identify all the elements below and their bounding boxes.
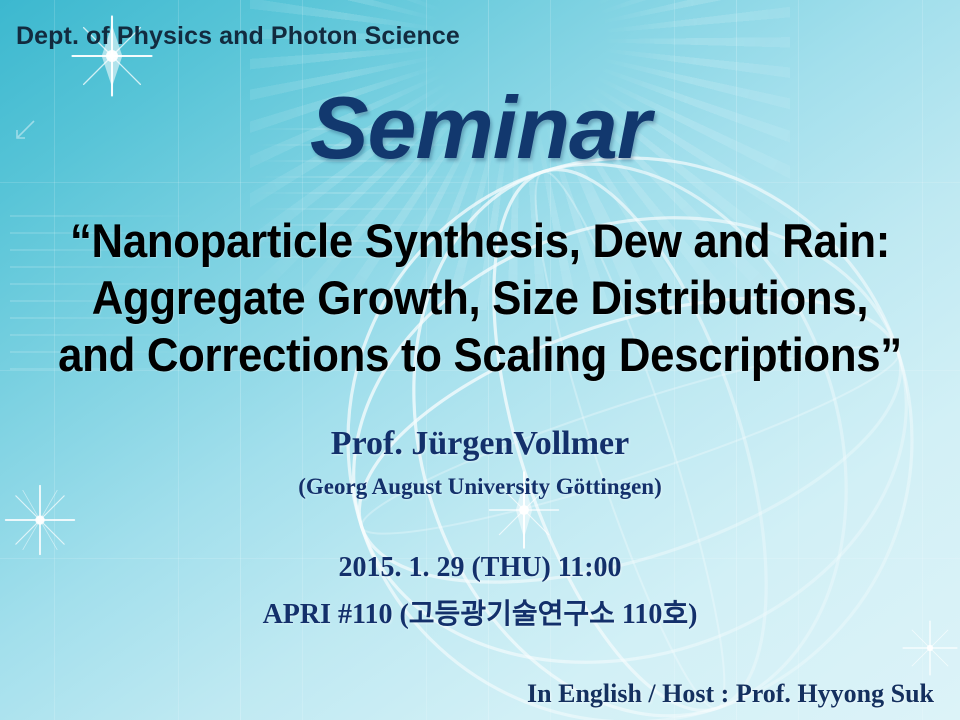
seminar-poster: Dept. of Physics and Photon Science Semi…	[0, 0, 960, 720]
event-venue: APRI #110 (고등광기술연구소 110호)	[0, 592, 960, 632]
talk-title: “Nanoparticle Synthesis, Dew and Rain: A…	[34, 212, 927, 383]
speaker-name: Prof. JürgenVollmer	[0, 425, 960, 463]
footer-note: In English / Host : Prof. Hyyong Suk	[527, 679, 934, 709]
talk-title-line-3: and Corrections to Scaling Descriptions”	[34, 326, 927, 383]
talk-title-line-1: “Nanoparticle Synthesis, Dew and Rain:	[34, 212, 927, 269]
speaker-affiliation: (Georg August University Göttingen)	[0, 474, 960, 500]
department-header: Dept. of Physics and Photon Science	[16, 22, 460, 51]
talk-title-line-2: Aggregate Growth, Size Distributions,	[34, 269, 927, 326]
page-title: Seminar	[0, 84, 960, 172]
event-datetime: 2015. 1. 29 (THU) 11:00	[0, 552, 960, 584]
